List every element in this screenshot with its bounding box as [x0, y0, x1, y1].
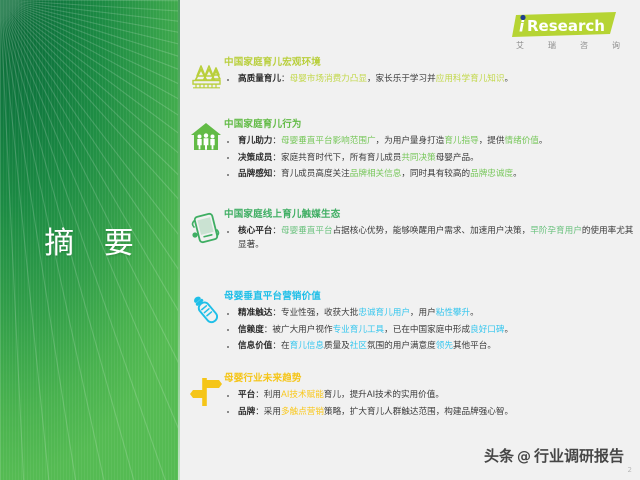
- bullet-text: 。: [513, 169, 522, 179]
- bullet-text: ：: [281, 74, 290, 84]
- slide-root: 摘 要 i Research 艾 瑞 咨 询: [0, 0, 640, 480]
- bullet-dot-icon: [227, 157, 229, 159]
- bullet-list: 高质量育儿：母婴市场消费力凸显，家长乐于学习并应用科学育儿知识。: [224, 73, 638, 87]
- forest-icon: [186, 56, 226, 96]
- bullet-item: 信赖度：被广大用户视作专业育儿工具，已在中国家庭中形成良好口碑。: [224, 324, 638, 338]
- bullet-list: 精准触达：专业性强，收获大批忠诚育儿用户，用户粘性攀升。信赖度：被广大用户视作专…: [224, 307, 638, 354]
- highlighted-keyword: 育儿信息: [290, 341, 324, 351]
- highlighted-keyword: 领先: [436, 341, 453, 351]
- bullet-text: ：: [272, 136, 281, 146]
- bullet-text: ：: [272, 226, 281, 236]
- bullet-text: ：育儿成员高度关注: [272, 169, 349, 179]
- bullet-dot-icon: [227, 141, 229, 143]
- summary-sections: 中国家庭育儿宏观环境 高质量育儿：母婴市场消费力凸显，家长乐于学习并应用科学育儿…: [186, 0, 640, 480]
- bullet-text: 占据核心优势，能够唤醒用户需求、加速用户决策，: [333, 226, 531, 236]
- bullet-text: ：专业性强，收获大批: [272, 308, 358, 318]
- highlighted-keyword: 应用科学育儿知识: [436, 74, 505, 84]
- bullet-text: ：利用: [255, 390, 281, 400]
- bullet-lead-label: 平台: [238, 390, 255, 400]
- bullet-text: ，同时具有较高的: [401, 169, 470, 179]
- bullet-item: 精准触达：专业性强，收获大批忠诚育儿用户，用户粘性攀升。: [224, 307, 638, 321]
- highlighted-keyword: AI技术赋能: [281, 390, 324, 400]
- bullet-item: 平台：利用AI技术赋能育儿，提升AI技术的实用价值。: [224, 389, 638, 403]
- bullet-text: ：被广大用户视作: [264, 325, 333, 335]
- bullet-list: 育儿助力：母婴垂直平台影响范围广，为用户量身打造育儿指导，提供情绪价值。决策成员…: [224, 135, 638, 182]
- bullet-text: ，用户: [410, 308, 436, 318]
- bullet-text: 。: [539, 136, 548, 146]
- bullet-text: 育儿，提升AI技术的实用价值。: [324, 390, 444, 400]
- bullet-text: ：采用: [255, 407, 281, 417]
- baby-bottle-icon: [186, 290, 226, 330]
- highlighted-keyword: 母婴市场消费力凸显: [290, 74, 367, 84]
- bullet-dot-icon: [227, 79, 229, 81]
- bullet-text: 母婴产品。: [436, 153, 479, 163]
- signpost-icon: [186, 372, 226, 412]
- bullet-text: 策略，扩大育儿人群触达范围，构建品牌强心智。: [324, 407, 513, 417]
- bullet-dot-icon: [227, 411, 229, 413]
- bullet-item: 高质量育儿：母婴市场消费力凸显，家长乐于学习并应用科学育儿知识。: [224, 73, 638, 87]
- highlighted-keyword: 社区: [350, 341, 367, 351]
- bullet-text: ，已在中国家庭中形成: [384, 325, 470, 335]
- highlighted-keyword: 良好口碑: [470, 325, 504, 335]
- bullet-lead-label: 品牌: [238, 407, 255, 417]
- highlighted-keyword: 情绪价值: [505, 136, 539, 146]
- bullet-text: ，提供: [479, 136, 505, 146]
- highlighted-keyword: 共同决策: [401, 153, 435, 163]
- section-heading: 中国家庭线上育儿触媒生态: [224, 208, 638, 222]
- bullet-lead-label: 决策成员: [238, 153, 272, 163]
- page-title: 摘 要: [0, 0, 178, 480]
- bullet-text: 氛围的用户满意度: [367, 341, 436, 351]
- mobile-phone-icon: [186, 208, 226, 248]
- family-house-icon: [186, 118, 226, 158]
- bullet-text: 。: [470, 308, 479, 318]
- bullet-text: 。: [504, 74, 513, 84]
- bullet-lead-label: 育儿助力: [238, 136, 272, 146]
- bullet-dot-icon: [227, 313, 229, 315]
- highlighted-keyword: 专业育儿工具: [333, 325, 385, 335]
- bullet-lead-label: 精准触达: [238, 308, 272, 318]
- bullet-item: 育儿助力：母婴垂直平台影响范围广，为用户量身打造育儿指导，提供情绪价值。: [224, 135, 638, 149]
- highlighted-keyword: 粘性攀升: [436, 308, 470, 318]
- bullet-lead-label: 信息价值: [238, 341, 272, 351]
- title-panel: 摘 要: [0, 0, 178, 480]
- bullet-lead-label: 品牌感知: [238, 169, 272, 179]
- bullet-item: 核心平台：母婴垂直平台占据核心优势，能够唤醒用户需求、加速用户决策，早阶孕育用户…: [224, 225, 638, 252]
- bullet-dot-icon: [227, 174, 229, 176]
- watermark-prefix: 头条: [484, 445, 514, 466]
- highlighted-keyword: 育儿指导: [444, 136, 478, 146]
- bullet-text: 。: [504, 325, 513, 335]
- bullet-item: 决策成员：家庭共育时代下，所有育儿成员共同决策母婴产品。: [224, 152, 638, 166]
- bullet-dot-icon: [227, 395, 229, 397]
- bullet-lead-label: 信赖度: [238, 325, 264, 335]
- section-heading: 母婴垂直平台营销价值: [224, 290, 638, 304]
- highlighted-keyword: 母婴垂直平台: [281, 226, 333, 236]
- highlighted-keyword: 忠诚育儿用户: [358, 308, 410, 318]
- highlighted-keyword: 品牌相关信息: [350, 169, 402, 179]
- bullet-list: 平台：利用AI技术赋能育儿，提升AI技术的实用价值。品牌：采用多触点营销策略，扩…: [224, 389, 638, 419]
- bullet-lead-label: 高质量育儿: [238, 74, 281, 84]
- watermark: 头条 @ 行业调研报告: [484, 445, 624, 466]
- bullet-dot-icon: [227, 231, 229, 233]
- highlighted-keyword: 多触点营销: [281, 407, 324, 417]
- watermark-at-symbol: @: [517, 449, 531, 465]
- bullet-text: ，为用户量身打造: [376, 136, 445, 146]
- bullet-text: 其他平台。: [453, 341, 496, 351]
- bullet-dot-icon: [227, 346, 229, 348]
- section-heading: 中国家庭育儿宏观环境: [224, 56, 638, 70]
- bullet-item: 信息价值：在育儿信息质量及社区氛围的用户满意度领先其他平台。: [224, 340, 638, 354]
- highlighted-keyword: 品牌忠诚度: [470, 169, 513, 179]
- highlighted-keyword: 早阶孕育用户: [530, 226, 582, 236]
- watermark-account-name: 行业调研报告: [534, 445, 624, 466]
- page-number: 2: [628, 466, 632, 474]
- bullet-lead-label: 核心平台: [238, 226, 272, 236]
- bullet-item: 品牌感知：育儿成员高度关注品牌相关信息，同时具有较高的品牌忠诚度。: [224, 168, 638, 182]
- bullet-dot-icon: [227, 329, 229, 331]
- bullet-item: 品牌：采用多触点营销策略，扩大育儿人群触达范围，构建品牌强心智。: [224, 406, 638, 420]
- bullet-text: ，家长乐于学习并: [367, 74, 436, 84]
- bullet-list: 核心平台：母婴垂直平台占据核心优势，能够唤醒用户需求、加速用户决策，早阶孕育用户…: [224, 225, 638, 252]
- bullet-text: 质量及: [324, 341, 350, 351]
- bullet-text: ：家庭共育时代下，所有育儿成员: [272, 153, 401, 163]
- section-heading: 中国家庭育儿行为: [224, 118, 638, 132]
- panel-edge-divider: [178, 0, 180, 480]
- section-heading: 母婴行业未来趋势: [224, 372, 638, 386]
- bullet-text: ：在: [272, 341, 289, 351]
- highlighted-keyword: 母婴垂直平台影响范围广: [281, 136, 376, 146]
